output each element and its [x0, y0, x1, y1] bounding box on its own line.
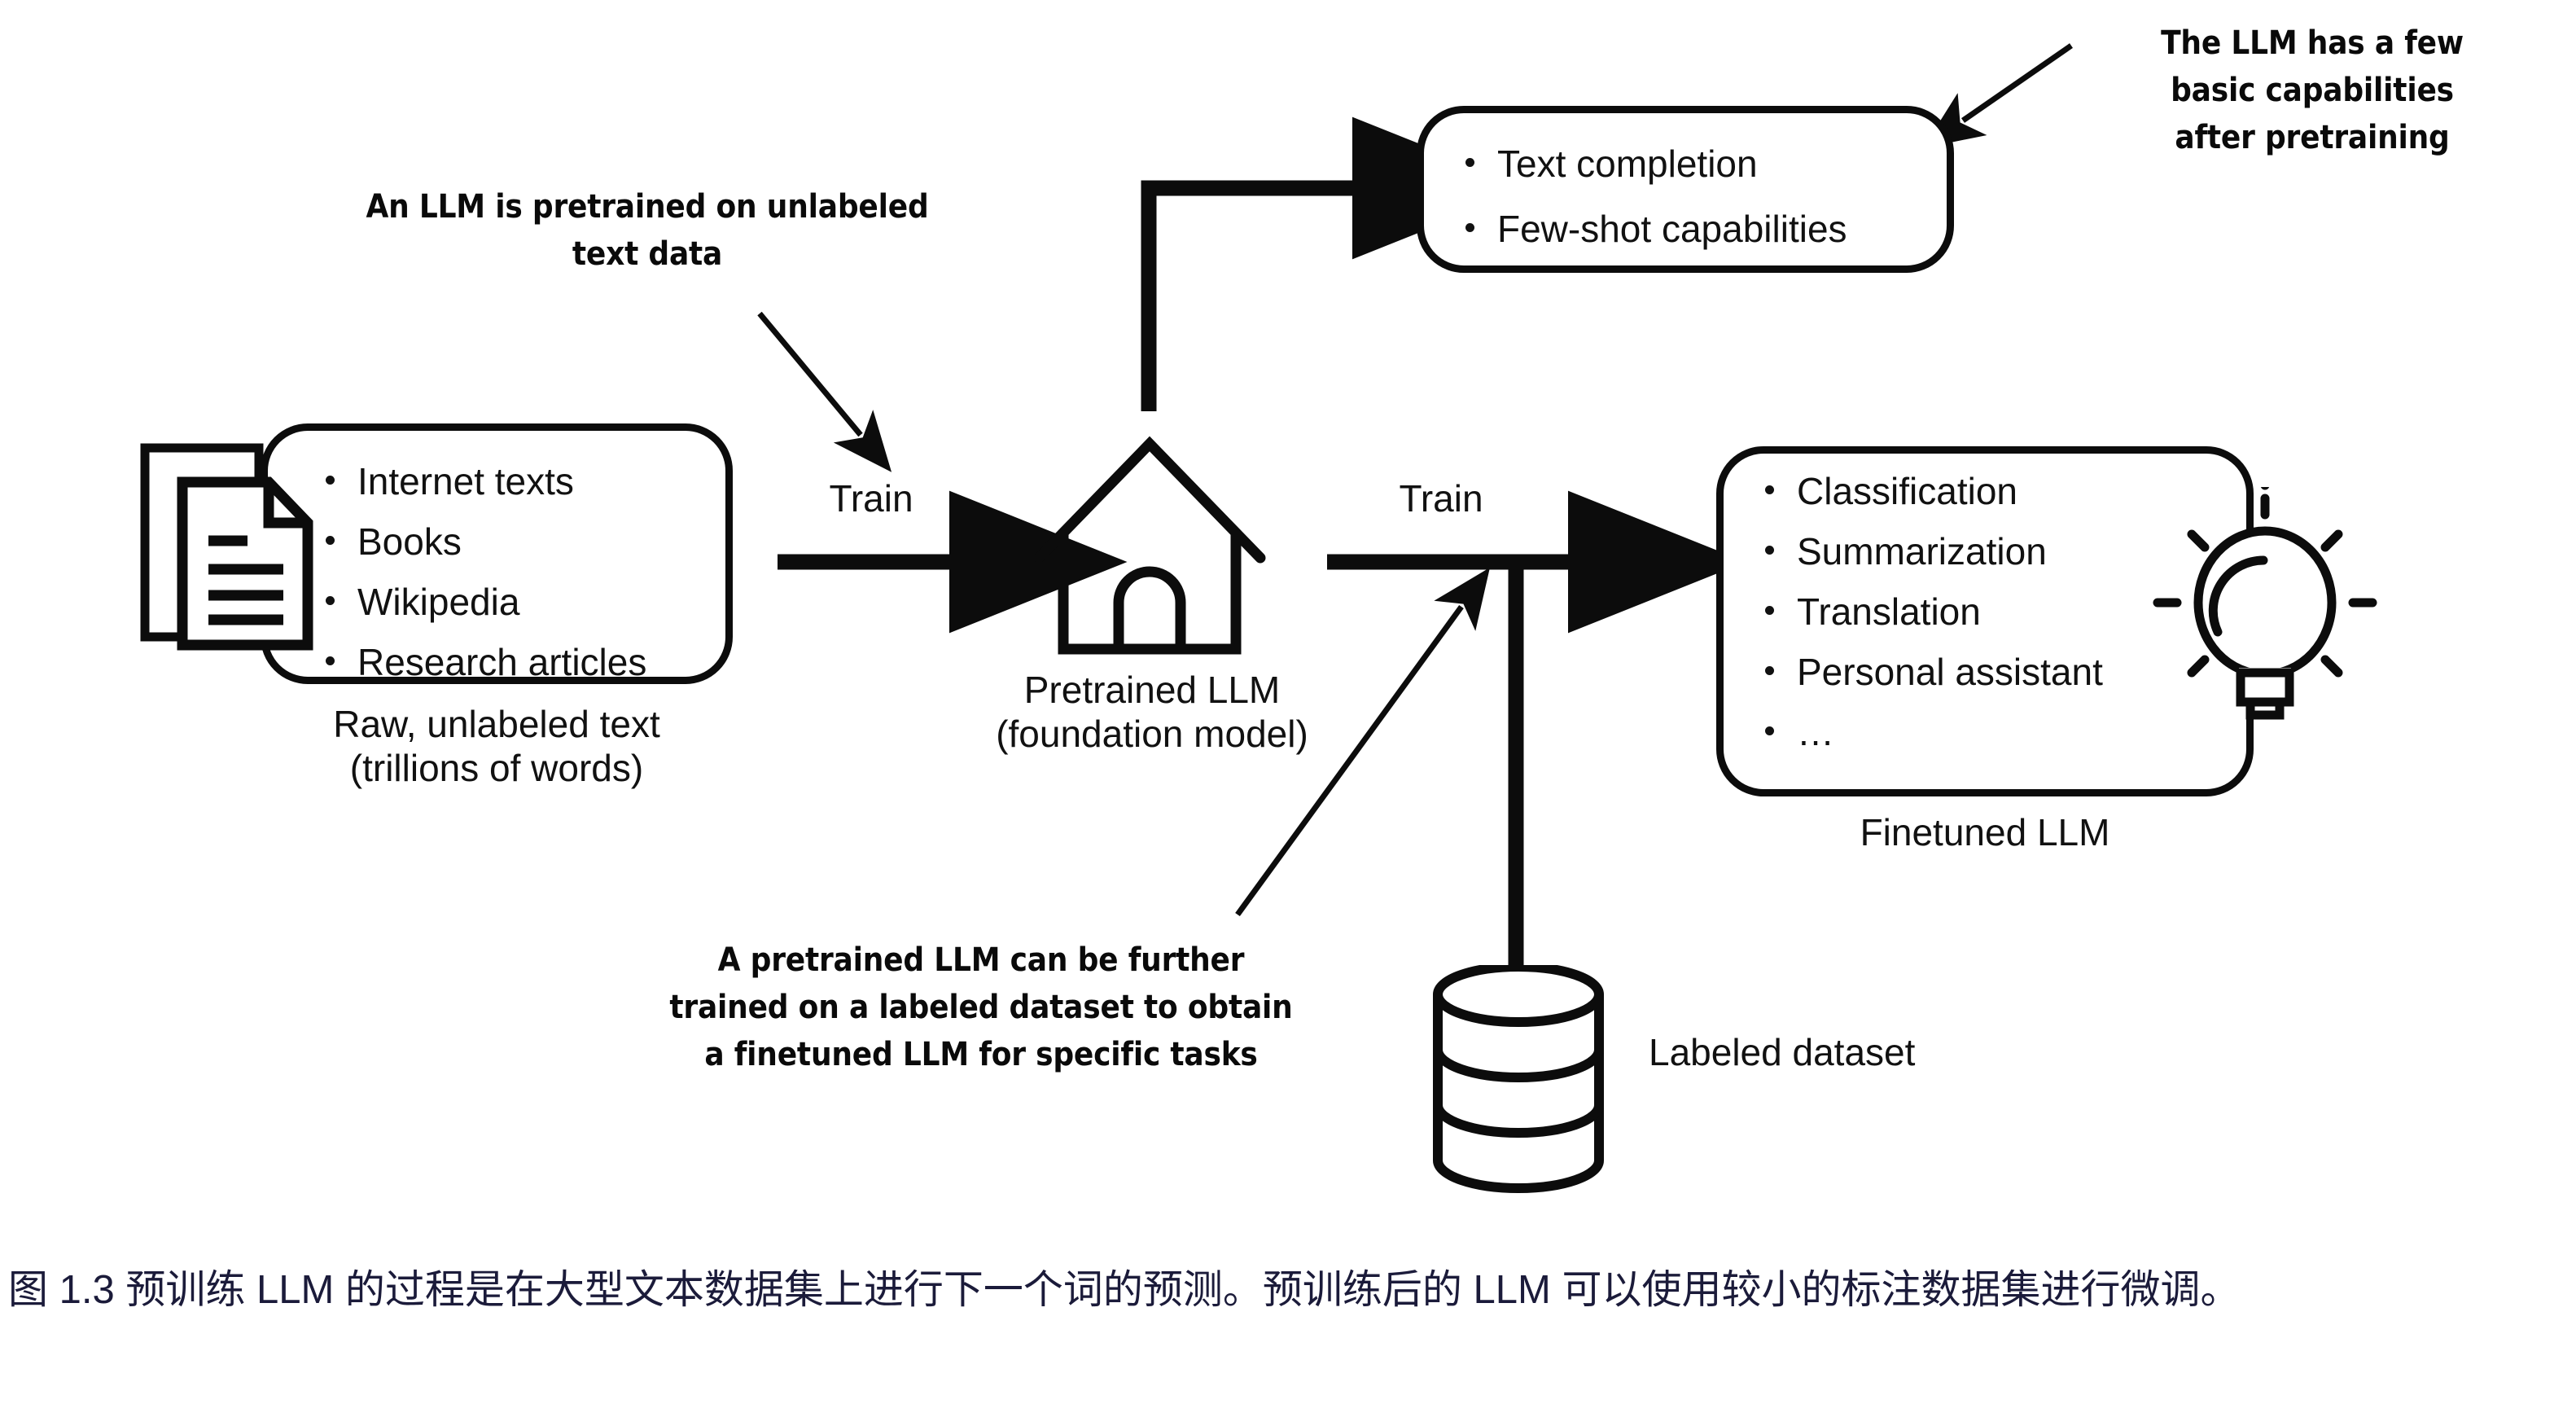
- bullet-label: Classification: [1797, 472, 2017, 510]
- train-label-1-text: Train: [829, 477, 913, 520]
- train-label-2: Train: [1352, 476, 1531, 520]
- bullet-dot-icon: [1765, 546, 1774, 555]
- capabilities-annotation-line3: after pretraining: [2084, 114, 2540, 161]
- capabilities-callout-arrow: [1963, 46, 2071, 121]
- bullet-label: Wikipedia: [357, 583, 519, 621]
- lightbulb-icon: [2143, 487, 2387, 748]
- bullet-label: Personal assistant: [1797, 653, 2103, 691]
- pretrain-callout-arrow: [760, 314, 861, 435]
- finetune-annotation-line2: trained on a labeled dataset to obtain: [643, 984, 1319, 1031]
- bullet-label: Books: [357, 523, 462, 560]
- bullet-label: Text completion: [1497, 145, 1758, 182]
- bullet-dot-icon: [1465, 158, 1474, 167]
- list-item: Internet texts: [326, 463, 708, 500]
- bullet-dot-icon: [1765, 606, 1774, 615]
- house-icon: [1027, 428, 1272, 664]
- labeled-dataset-label-text: Labeled dataset: [1649, 1031, 1915, 1073]
- bullet-label: …: [1797, 713, 1834, 751]
- raw-text-caption-line2: (trillions of words): [195, 746, 798, 790]
- capabilities-annotation: The LLM has a few basic capabilities aft…: [2084, 20, 2540, 161]
- capabilities-annotation-line2: basic capabilities: [2084, 67, 2540, 114]
- list-item: Few-shot capabilities: [1465, 210, 1938, 248]
- list-item: Books: [326, 523, 708, 560]
- pretrain-annotation: An LLM is pretrained on unlabeled text d…: [305, 183, 989, 278]
- train-label-1: Train: [782, 476, 961, 520]
- pretrained-llm-caption: Pretrained LLM (foundation model): [900, 668, 1404, 757]
- finetuned-llm-caption: Finetuned LLM: [1716, 810, 2254, 854]
- train-arrow-2: [1327, 562, 1584, 973]
- documents-stack-icon: [137, 437, 329, 655]
- list-item: Research articles: [326, 643, 708, 681]
- bullet-dot-icon: [1765, 485, 1774, 494]
- bullet-label: Few-shot capabilities: [1497, 210, 1847, 248]
- finetune-annotation-line1: A pretrained LLM can be further: [643, 937, 1319, 984]
- bullet-label: Translation: [1797, 593, 1981, 630]
- raw-text-caption-line1: Raw, unlabeled text: [195, 702, 798, 746]
- list-item: Wikipedia: [326, 583, 708, 621]
- figure-caption: 图 1.3 预训练 LLM 的过程是在大型文本数据集上进行下一个词的预测。预训练…: [8, 1261, 2540, 1321]
- figure-caption-text: 图 1.3 预训练 LLM 的过程是在大型文本数据集上进行下一个词的预测。预训练…: [8, 1268, 2240, 1312]
- bullet-dot-icon: [326, 656, 335, 665]
- pretrained-llm-caption-line1: Pretrained LLM: [900, 668, 1404, 712]
- raw-text-bullet-list: Internet texts Books Wikipedia Research …: [326, 463, 708, 681]
- capabilities-elbow-arrow: [1149, 188, 1368, 411]
- list-item: Text completion: [1465, 145, 1938, 182]
- database-cylinder-icon: [1425, 965, 1612, 1193]
- pretrained-llm-caption-line2: (foundation model): [900, 712, 1404, 756]
- bullet-label: Research articles: [357, 643, 646, 681]
- bullet-label: Summarization: [1797, 533, 2047, 570]
- figure-container: Internet texts Books Wikipedia Research …: [0, 0, 2576, 1404]
- bullet-label: Internet texts: [357, 463, 574, 500]
- bullet-dot-icon: [1765, 666, 1774, 675]
- capabilities-bullet-list: Text completion Few-shot capabilities: [1465, 145, 1938, 248]
- labeled-dataset-label: Labeled dataset: [1649, 1030, 1915, 1074]
- pretrain-annotation-line2: text data: [305, 230, 989, 278]
- bullet-dot-icon: [1765, 726, 1774, 735]
- finetune-annotation: A pretrained LLM can be further trained …: [643, 937, 1319, 1078]
- train-label-2-text: Train: [1399, 477, 1483, 520]
- raw-text-caption: Raw, unlabeled text (trillions of words): [195, 702, 798, 791]
- pretrain-annotation-line1: An LLM is pretrained on unlabeled: [305, 183, 989, 230]
- bullet-dot-icon: [1465, 223, 1474, 232]
- finetune-annotation-line3: a finetuned LLM for specific tasks: [643, 1031, 1319, 1078]
- capabilities-annotation-line1: The LLM has a few: [2084, 20, 2540, 67]
- finetuned-llm-caption-text: Finetuned LLM: [1860, 811, 2110, 853]
